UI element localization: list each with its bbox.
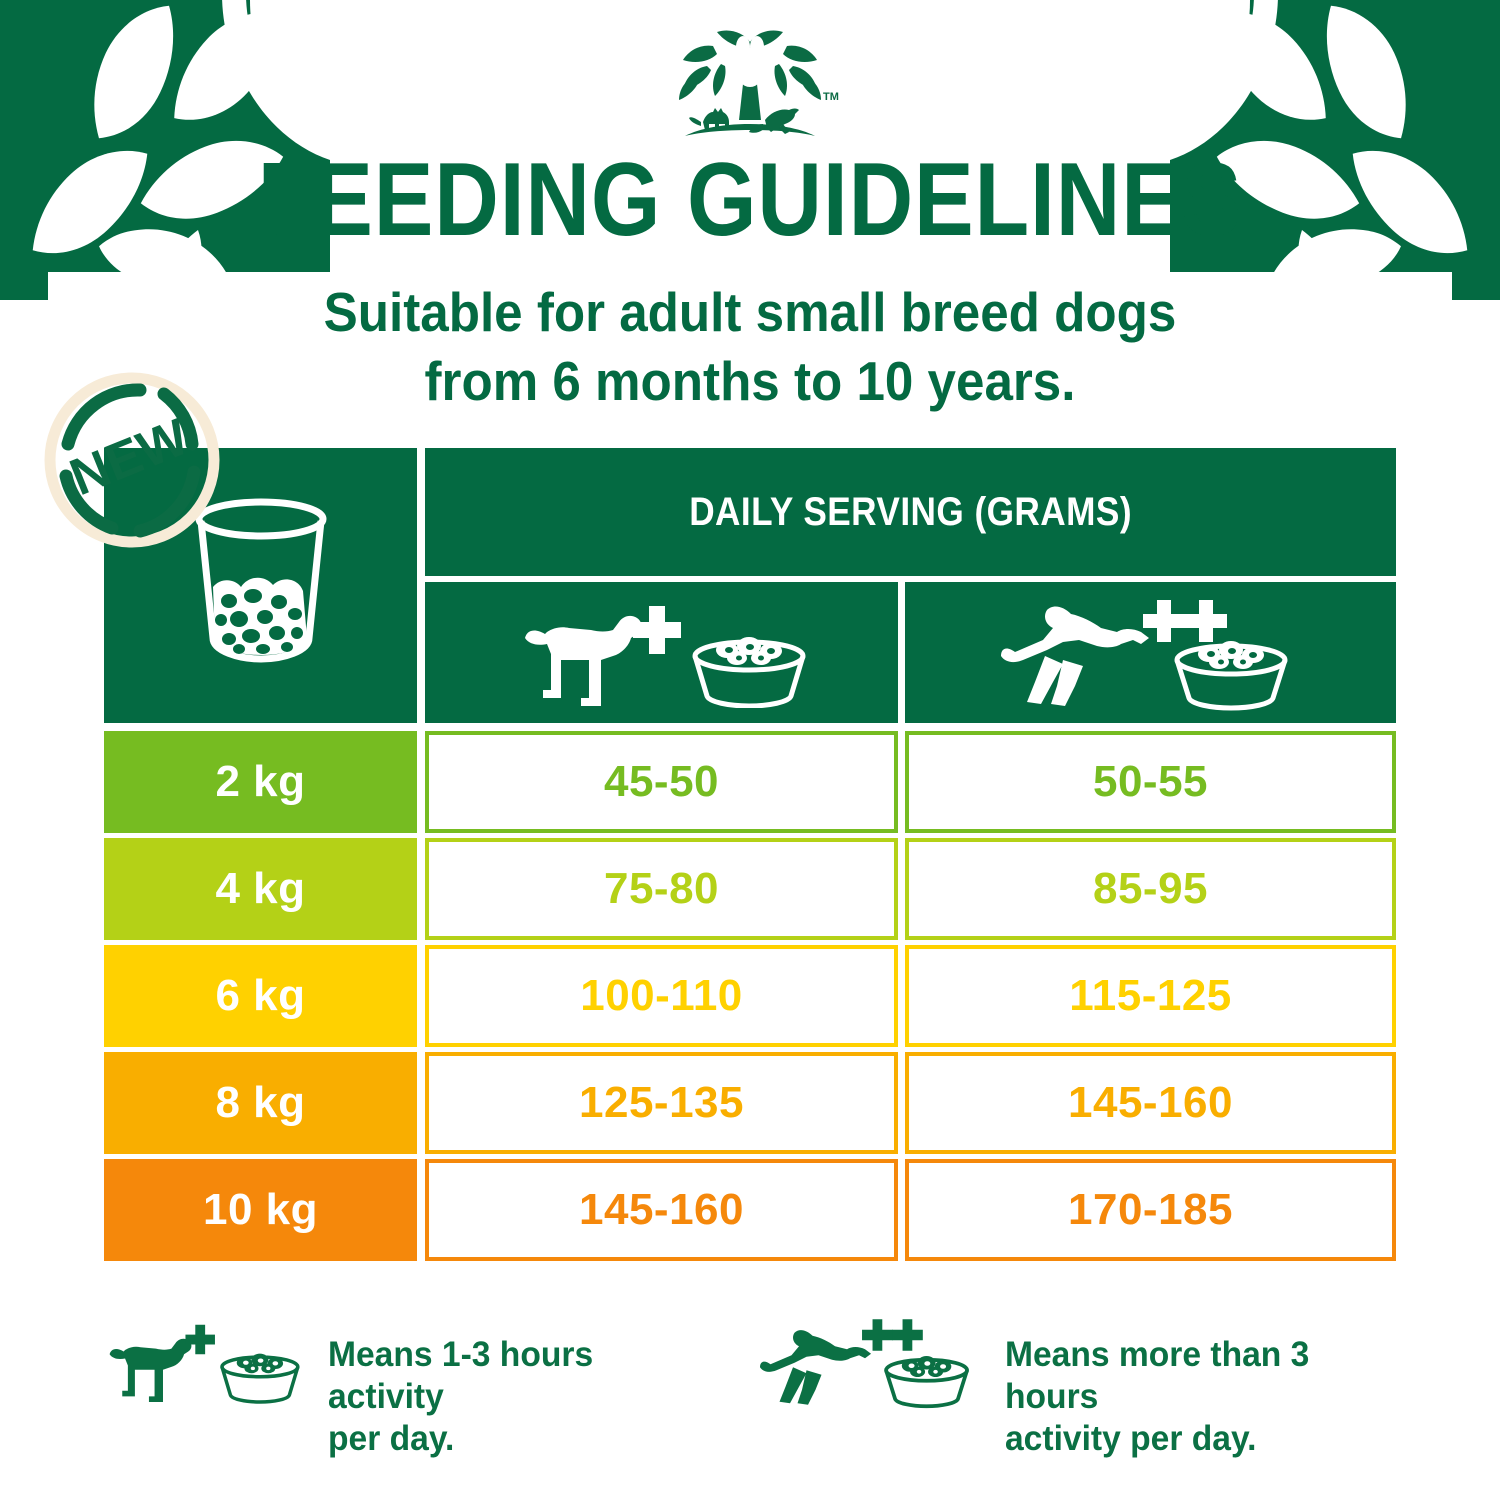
trademark-symbol: TM	[823, 91, 839, 103]
jumping-dog-with-bowl-icon	[1001, 594, 1301, 712]
table-row: 8 kg125-135145-160	[104, 1052, 1396, 1154]
table-row: 6 kg100-110115-125	[104, 945, 1396, 1047]
page-title: FEEDING GUIDELINES	[105, 148, 1395, 252]
serving-cell-low-activity: 75-80	[425, 838, 898, 940]
subtitle-line-2: from 6 months to 10 years.	[53, 347, 1448, 416]
weight-cell: 8 kg	[104, 1052, 417, 1154]
jumping-dog-with-bowl-icon	[760, 1312, 985, 1412]
legend-high-activity: Means more than 3 hours activity per day…	[760, 1312, 1420, 1460]
subtitle-line-1: Suitable for adult small breed dogs	[53, 278, 1448, 347]
serving-cell-high-activity: 115-125	[905, 945, 1396, 1047]
activity-column-high	[905, 582, 1396, 723]
daily-serving-header: DAILY SERVING (GRAMS)	[425, 448, 1396, 576]
serving-cell-high-activity: 85-95	[905, 838, 1396, 940]
table-row: 10 kg145-160170-185	[104, 1159, 1396, 1261]
feeding-table: DAILY SERVING (GRAMS)	[104, 448, 1396, 1236]
serving-cell-high-activity: 170-185	[905, 1159, 1396, 1261]
legend-low-line-1: Means 1-3 hours activity	[328, 1334, 689, 1418]
serving-cell-low-activity: 100-110	[425, 945, 898, 1047]
activity-column-low	[425, 582, 898, 723]
standing-dog-with-bowl-icon	[517, 598, 807, 708]
serving-cell-high-activity: 50-55	[905, 731, 1396, 833]
standing-dog-with-bowl-icon	[104, 1312, 308, 1412]
legend-low-activity-text: Means 1-3 hours activity per day.	[328, 1312, 689, 1460]
serving-cell-low-activity: 145-160	[425, 1159, 898, 1261]
legend-low-activity: Means 1-3 hours activity per day.	[104, 1312, 704, 1460]
brand-logo: TM	[655, 24, 845, 144]
serving-cell-high-activity: 145-160	[905, 1052, 1396, 1154]
table-row: 4 kg75-8085-95	[104, 838, 1396, 940]
weight-cell: 10 kg	[104, 1159, 417, 1261]
table-row: 2 kg45-5050-55	[104, 731, 1396, 833]
legend-low-line-2: per day.	[328, 1418, 689, 1460]
weight-cell: 4 kg	[104, 838, 417, 940]
legend-high-line-1: Means more than 3 hours	[1005, 1334, 1403, 1418]
weight-cell: 2 kg	[104, 731, 417, 833]
new-badge: NEW	[44, 372, 224, 550]
daily-serving-header-label: DAILY SERVING (GRAMS)	[689, 490, 1132, 535]
legend-high-activity-text: Means more than 3 hours activity per day…	[1005, 1312, 1403, 1460]
page-subtitle: Suitable for adult small breed dogs from…	[53, 278, 1448, 416]
serving-cell-low-activity: 45-50	[425, 731, 898, 833]
legend-high-line-2: activity per day.	[1005, 1418, 1403, 1460]
serving-cell-low-activity: 125-135	[425, 1052, 898, 1154]
weight-cell: 6 kg	[104, 945, 417, 1047]
